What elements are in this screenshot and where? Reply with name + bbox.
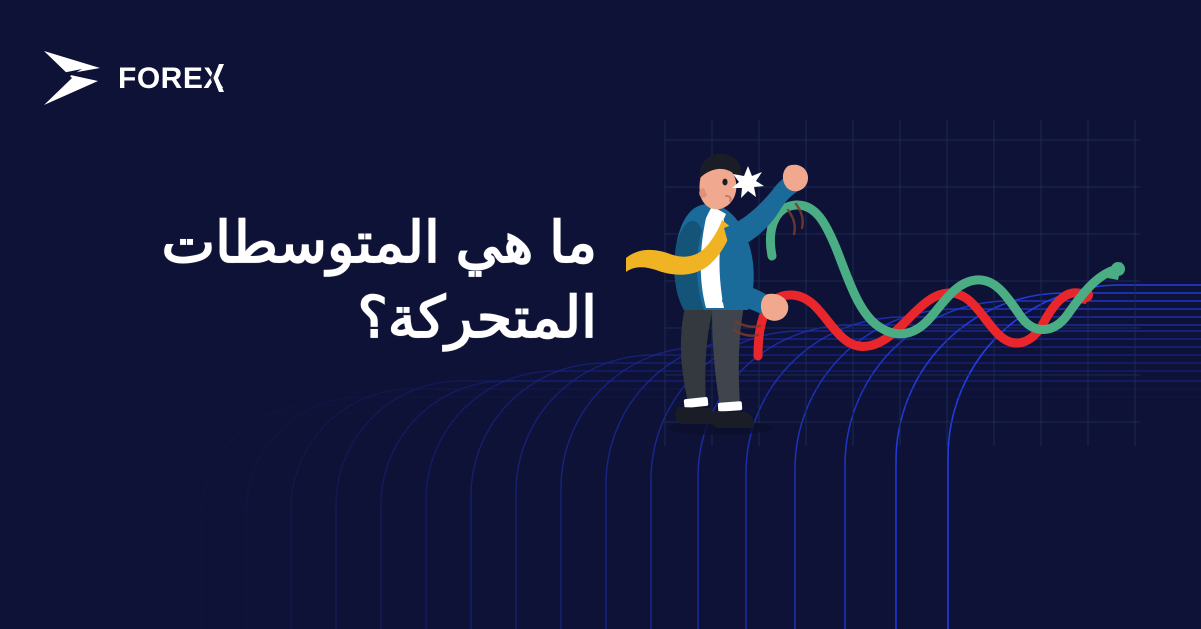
hand-raised	[783, 165, 808, 192]
eye	[722, 179, 727, 186]
shoe-back	[675, 407, 716, 424]
hero-illustration	[620, 96, 1201, 446]
sock-front	[718, 401, 743, 412]
leg-back	[681, 302, 714, 402]
leg-front	[712, 304, 744, 406]
page-title: ما هي المتوسطات المتحركة؟	[52, 206, 597, 356]
forex-arrow-mark-icon	[42, 49, 104, 107]
headline-line-1: ما هي المتوسطات	[52, 206, 597, 281]
forex-hero-banner: FOREX ما هي المتوسطات المتحركة؟	[0, 0, 1201, 629]
forex-wordmark: FOREX	[118, 61, 250, 95]
wordmark-text: FOREX	[118, 62, 224, 95]
shoe-front	[711, 411, 754, 428]
businessman-with-moving-averages-svg	[620, 96, 1201, 446]
forex-logo[interactable]: FOREX	[42, 46, 250, 110]
headline-line-2: المتحركة؟	[52, 281, 597, 356]
